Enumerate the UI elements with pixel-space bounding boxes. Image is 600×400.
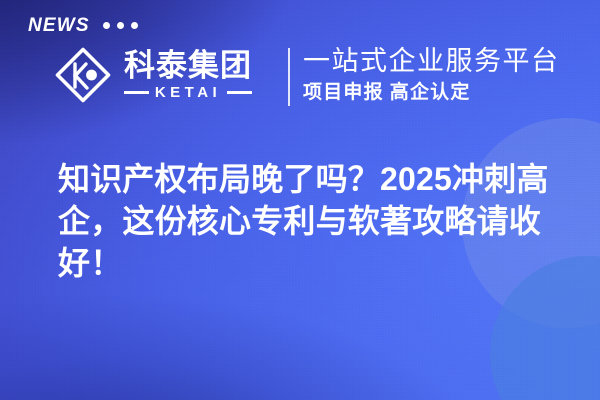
header-divider (288, 48, 290, 106)
brand-logo: 科泰集团 KETAI (52, 44, 252, 106)
news-dots-icon (103, 22, 138, 29)
wordmark-rule-right (227, 91, 252, 94)
wordmark-rule-left (124, 91, 149, 94)
brand-wordmark: 科泰集团 KETAI (124, 50, 252, 100)
news-dot (103, 22, 110, 29)
headline-text: 知识产权布局晚了吗？2025冲刺高企，这份核心专利与软著攻略请收好！ (58, 158, 556, 284)
brand-name-cn: 科泰集团 (124, 50, 252, 83)
news-dot (131, 22, 138, 29)
ketai-diamond-monogram-icon (52, 44, 114, 106)
brand-name-en: KETAI (155, 85, 221, 100)
news-label: NEWS (28, 16, 90, 35)
brand-name-en-row: KETAI (124, 85, 252, 100)
news-banner: NEWS 科泰集团 K (0, 0, 600, 400)
slogan-block: 一站式企业服务平台 项目申报 高企认定 (303, 46, 560, 104)
slogan-secondary: 项目申报 高企认定 (303, 82, 560, 104)
news-eyebrow: NEWS (28, 16, 138, 35)
news-dot (117, 22, 124, 29)
slogan-primary: 一站式企业服务平台 (303, 46, 560, 77)
